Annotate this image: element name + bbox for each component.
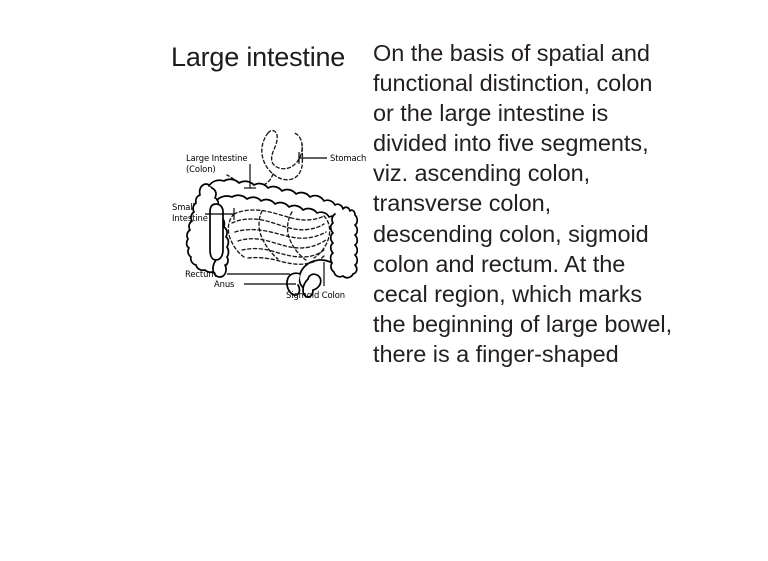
body-line: descending colon, sigmoid [373, 219, 679, 249]
body-line: viz. ascending colon, [373, 158, 679, 188]
body-line: or the large intestine is [373, 98, 679, 128]
body-line: divided into five segments, [373, 128, 679, 158]
body-line: the beginning of large bowel, [373, 309, 679, 339]
label-large-intestine-colon: (Colon) [186, 164, 216, 174]
cecum-shape-icon [210, 204, 226, 277]
body-line: functional distinction, colon [373, 68, 679, 98]
slide-canvas: Large intestine On the basis of spatial … [0, 0, 768, 561]
label-small-intestine-2: Intestine [172, 213, 208, 223]
body-line: On the basis of spatial and [373, 38, 679, 68]
body-line: cecal region, which marks [373, 279, 679, 309]
body-line: transverse colon, [373, 188, 679, 218]
label-stomach: Stomach [330, 153, 366, 163]
label-sigmoid-colon: Sigmoid Colon [286, 290, 345, 300]
label-anus: Anus [214, 279, 234, 289]
descending-colon-shape-icon [331, 214, 358, 278]
body-text-block: On the basis of spatial and functional d… [373, 38, 679, 369]
body-line: colon and rectum. At the [373, 249, 679, 279]
label-rectum: Rectum [185, 269, 216, 279]
body-line: there is a finger-shaped [373, 339, 679, 369]
large-intestine-anatomy-diagram: Large Intestine (Colon) Stomach Small In… [172, 126, 372, 300]
label-small-intestine: Small [172, 202, 195, 212]
page-title: Large intestine [171, 40, 345, 74]
label-large-intestine: Large Intestine [186, 153, 247, 163]
